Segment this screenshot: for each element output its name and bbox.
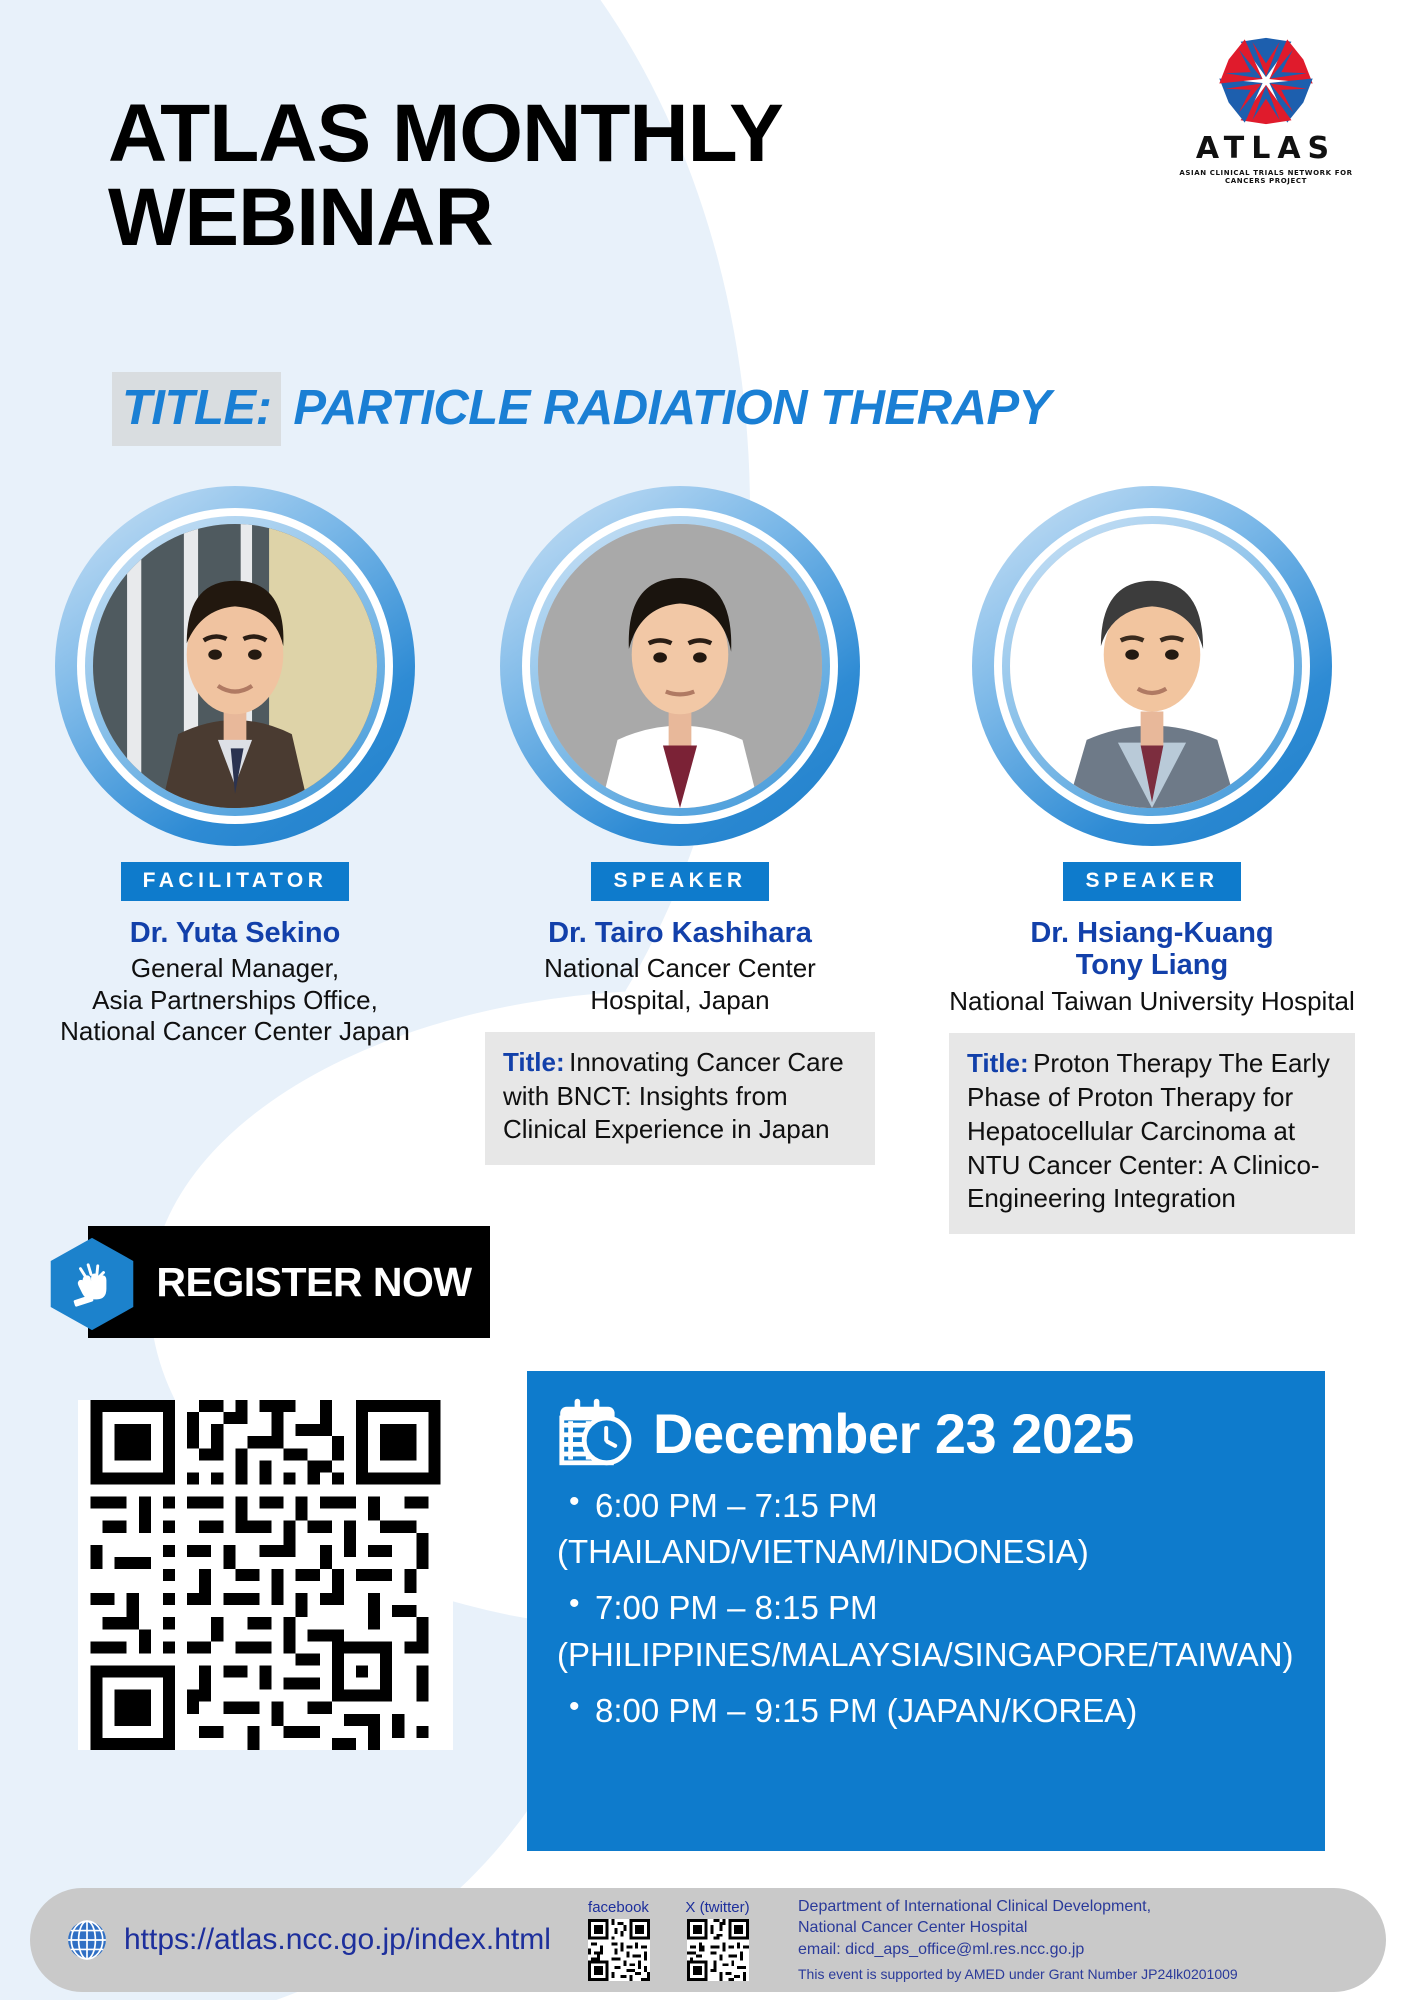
website-link[interactable]: https://atlas.ncc.go.jp/index.html: [30, 1919, 576, 1961]
webinar-poster: ATLAS MONTHLY WEBINAR: [0, 0, 1414, 2000]
subtitle-text: PARTICLE RADIATION THERAPY: [281, 380, 1050, 436]
talk-label: Title:: [503, 1047, 565, 1077]
website-url-text: https://atlas.ncc.go.jp/index.html: [124, 1923, 551, 1957]
grant-note: This event is supported by AMED under Gr…: [798, 1965, 1238, 1984]
event-date-panel: December 23 2025 6:00 PM – 7:15 PM (THAI…: [527, 1371, 1325, 1851]
portrait-tairo-kashihara: [538, 524, 822, 808]
contact-block: Department of International Clinical Dev…: [798, 1896, 1238, 1985]
speaker-affiliation: General Manager, Asia Partnerships Offic…: [60, 953, 410, 1047]
session-time: 7:00 PM – 8:15 PM: [557, 1587, 1303, 1629]
session-time: 6:00 PM – 7:15 PM: [557, 1485, 1303, 1527]
contact-line-2: National Cancer Center Hospital: [798, 1917, 1238, 1939]
title-line-2: WEBINAR: [108, 176, 1008, 260]
role-badge: SPEAKER: [1063, 862, 1240, 901]
avatar: [972, 486, 1332, 846]
session-row: 8:00 PM – 9:15 PM (JAPAN/KOREA): [557, 1690, 1303, 1732]
poster-header: ATLAS MONTHLY WEBINAR: [0, 0, 1414, 360]
talk-title-box: Title: Innovating Cancer Care with BNCT:…: [485, 1032, 875, 1165]
contact-email: email: dicd_aps_office@ml.res.ncc.go.jp: [798, 1939, 1238, 1961]
register-now-button[interactable]: REGISTER NOW: [44, 1226, 490, 1338]
speaker-name: Dr. Yuta Sekino: [130, 917, 341, 949]
register-label: REGISTER NOW: [156, 1259, 471, 1306]
avatar: [55, 486, 415, 846]
talk-label: Title:: [967, 1048, 1029, 1078]
speakers-row: FACILITATOR Dr. Yuta Sekino General Mana…: [0, 486, 1414, 1234]
session-row: 6:00 PM – 7:15 PM (THAILAND/VIETNAM/INDO…: [557, 1485, 1303, 1573]
social-x-twitter[interactable]: X (twitter): [675, 1899, 760, 1981]
globe-icon: [66, 1919, 108, 1961]
speaker-name: Dr. Tairo Kashihara: [548, 917, 812, 949]
contact-line-1: Department of International Clinical Dev…: [798, 1896, 1238, 1918]
role-badge: SPEAKER: [591, 862, 768, 901]
title-line-1: ATLAS MONTHLY: [108, 92, 1008, 176]
portrait-hsiang-kuang-tony-liang: [1010, 524, 1294, 808]
speaker-name: Dr. Hsiang-Kuang Tony Liang: [1030, 917, 1273, 982]
social-label: facebook: [576, 1899, 661, 1916]
webinar-subtitle: TITLE:PARTICLE RADIATION THERAPY: [112, 372, 1051, 446]
poster-footer: https://atlas.ncc.go.jp/index.html faceb…: [30, 1888, 1386, 1992]
atlas-hexagon-star-icon: [1217, 32, 1315, 130]
talk-title-box: Title: Proton Therapy The Early Phase of…: [949, 1033, 1355, 1234]
registration-qr-code[interactable]: [78, 1400, 453, 1750]
session-zones: (PHILIPPINES/MALAYSIA/SINGAPORE/TAIWAN): [557, 1634, 1303, 1676]
speaker-affiliation: National Taiwan University Hospital: [949, 986, 1355, 1017]
calendar-clock-icon: [557, 1397, 637, 1471]
role-badge: FACILITATOR: [121, 862, 350, 901]
x-twitter-qr-code[interactable]: [687, 1919, 749, 1981]
session-zones: (THAILAND/VIETNAM/INDONESIA): [557, 1531, 1303, 1573]
portrait-yuta-sekino: [93, 524, 377, 808]
speaker-card-liang: SPEAKER Dr. Hsiang-Kuang Tony Liang Nati…: [890, 486, 1414, 1234]
avatar: [500, 486, 860, 846]
session-row: 7:00 PM – 8:15 PM (PHILIPPINES/MALAYSIA/…: [557, 1587, 1303, 1675]
logo-tagline: ASIAN CLINICAL TRIALS NETWORK FOR CANCER…: [1166, 169, 1366, 185]
atlas-logo: ATLAS ASIAN CLINICAL TRIALS NETWORK FOR …: [1166, 32, 1366, 185]
session-time: 8:00 PM – 9:15 PM (JAPAN/KOREA): [557, 1690, 1303, 1732]
subtitle-label: TITLE:: [112, 372, 281, 446]
social-facebook[interactable]: facebook: [576, 1899, 661, 1981]
speaker-affiliation: National Cancer Center Hospital, Japan: [544, 953, 816, 1015]
page-title: ATLAS MONTHLY WEBINAR: [108, 92, 1008, 259]
logo-wordmark: ATLAS: [1166, 134, 1366, 164]
speaker-card-facilitator: FACILITATOR Dr. Yuta Sekino General Mana…: [0, 486, 470, 1234]
event-date: December 23 2025: [653, 1406, 1134, 1462]
speaker-card-kashihara: SPEAKER Dr. Tairo Kashihara National Can…: [470, 486, 890, 1234]
facebook-qr-code[interactable]: [588, 1919, 650, 1981]
social-label: X (twitter): [675, 1899, 760, 1916]
click-hand-cursor-icon: [44, 1236, 140, 1332]
